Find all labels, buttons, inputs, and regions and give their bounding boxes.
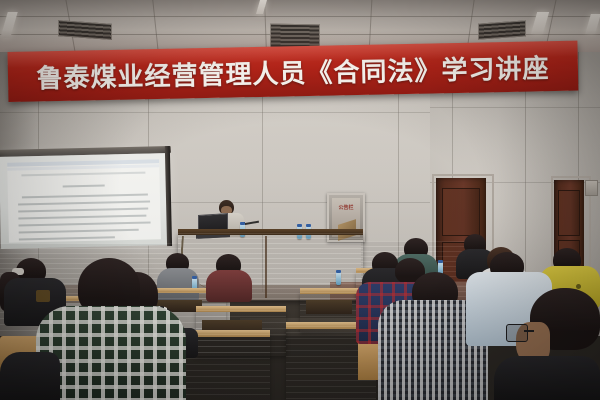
bottle-cap-icon bbox=[306, 224, 311, 227]
screen-edge bbox=[165, 146, 172, 246]
button-icon bbox=[576, 284, 581, 289]
bottle-cap-icon bbox=[336, 270, 341, 273]
desk-shadow bbox=[306, 300, 352, 314]
sign-text: 公告栏 bbox=[332, 205, 360, 212]
bottle-cap-icon bbox=[438, 260, 443, 263]
water-bottle bbox=[336, 272, 341, 285]
light-switch-panel[interactable] bbox=[585, 180, 598, 196]
podium-seam bbox=[265, 236, 267, 298]
audience-torso bbox=[494, 356, 600, 400]
audience-torso bbox=[206, 270, 252, 302]
glasses-bridge-icon bbox=[524, 330, 534, 332]
bottle-cap-icon bbox=[297, 224, 302, 227]
projection-screen bbox=[0, 146, 173, 254]
shoulder-detail bbox=[36, 290, 50, 302]
projected-document bbox=[7, 159, 161, 242]
glasses-icon bbox=[506, 324, 528, 342]
bottle-cap-icon bbox=[240, 222, 245, 225]
bottle-cap-icon bbox=[192, 276, 197, 279]
audience-torso bbox=[0, 352, 60, 400]
lecture-hall-photo: 鲁泰煤业经营管理人员《合同法》学习讲座 公告栏 bbox=[0, 0, 600, 400]
screen-surface bbox=[0, 153, 169, 249]
